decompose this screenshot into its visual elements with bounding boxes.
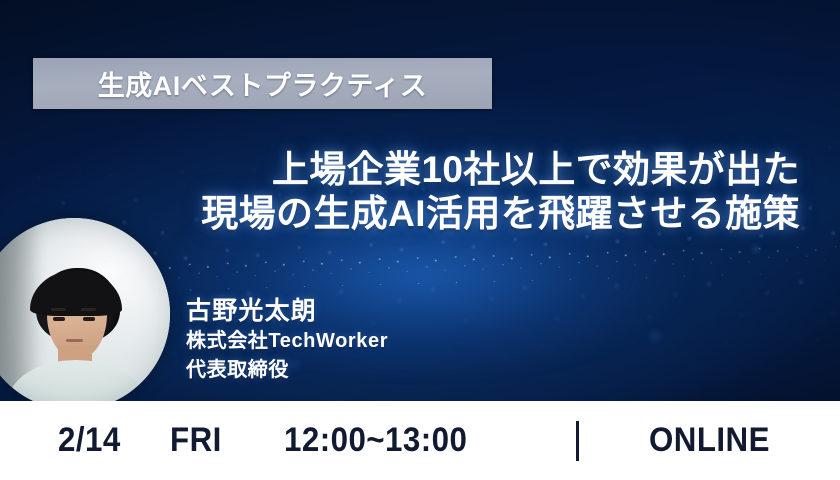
speaker-name: 古野光太朗 bbox=[186, 296, 388, 327]
event-details-bar: 2/14 FRI 12:00~13:00 ONLINE bbox=[0, 401, 840, 480]
headline-line-1: 上場企業10社以上で効果が出た bbox=[201, 148, 800, 192]
speaker-company: 株式会社TechWorker bbox=[186, 327, 388, 356]
webinar-banner: 生成AIベストプラクティス 上場企業10社以上で効果が出た 現場の生成AI活用を… bbox=[0, 0, 840, 480]
footer-divider bbox=[576, 421, 579, 461]
event-date: 2/14 bbox=[58, 421, 121, 460]
speaker-info: 古野光太朗 株式会社TechWorker 代表取締役 bbox=[186, 296, 388, 385]
speaker-role: 代表取締役 bbox=[186, 356, 388, 385]
speaker-avatar bbox=[0, 218, 170, 410]
category-badge-label: 生成AIベストプラクティス bbox=[98, 64, 427, 103]
headline: 上場企業10社以上で効果が出た 現場の生成AI活用を飛躍させる施策 bbox=[201, 148, 800, 235]
category-badge: 生成AIベストプラクティス bbox=[33, 58, 492, 109]
headline-line-2: 現場の生成AI活用を飛躍させる施策 bbox=[201, 192, 800, 236]
event-details-inner: 2/14 FRI 12:00~13:00 ONLINE bbox=[0, 421, 840, 461]
event-mode: ONLINE bbox=[649, 421, 770, 460]
event-day-of-week: FRI bbox=[170, 421, 222, 460]
event-time: 12:00~13:00 bbox=[284, 421, 467, 460]
